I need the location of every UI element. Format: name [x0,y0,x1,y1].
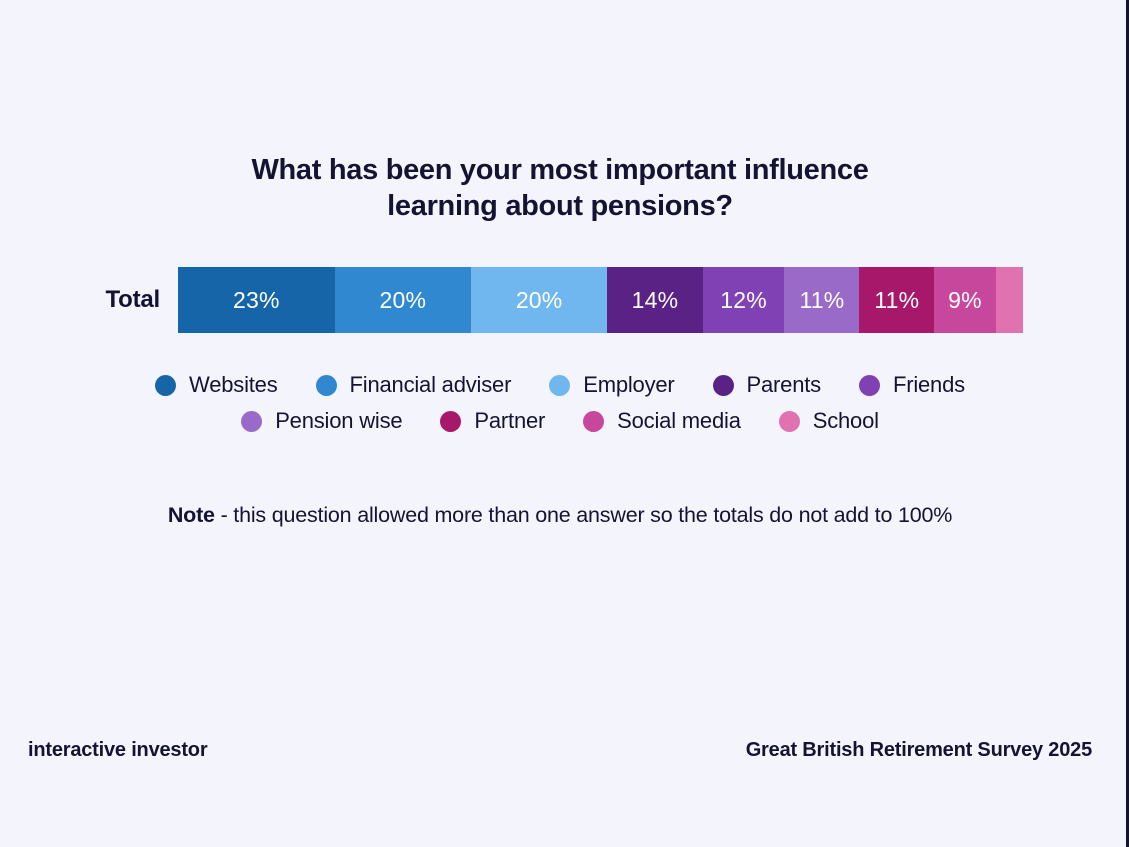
legend-label-websites: Websites [189,372,277,398]
slide-footer: interactive investor Great British Retir… [0,739,1120,762]
bar-segment-friends[interactable]: 12% [703,267,785,333]
legend-item-pension-wise[interactable]: Pension wise [241,408,402,434]
bar-segment-employer[interactable]: 20% [471,267,607,333]
bar-segment-value: 23% [233,287,280,314]
legend-item-social-media[interactable]: Social media [583,408,741,434]
legend-swatch-friends [859,375,880,396]
legend-label-social-media: Social media [617,408,741,434]
legend-row-1: WebsitesFinancial adviserEmployerParents… [0,372,1120,398]
legend-swatch-school [779,411,800,432]
legend-item-financial-adviser[interactable]: Financial adviser [316,372,512,398]
survey-title-label: Great British Retirement Survey 2025 [746,739,1092,762]
bar-segment-value: 11% [874,287,919,314]
legend-item-parents[interactable]: Parents [713,372,821,398]
legend-item-employer[interactable]: Employer [549,372,674,398]
legend-label-employer: Employer [583,372,674,398]
legend-label-partner: Partner [474,408,545,434]
bar-segment-partner[interactable]: 11% [859,267,934,333]
stacked-bar-row: Total 23%20%20%14%12%11%11%9% [0,267,1120,333]
legend-swatch-parents [713,375,734,396]
chart-slide: What has been your most important influe… [0,0,1126,847]
legend-row-2: Pension wisePartnerSocial mediaSchool [0,408,1120,434]
legend-label-pension-wise: Pension wise [275,408,402,434]
legend-swatch-partner [440,411,461,432]
stacked-bar: 23%20%20%14%12%11%11%9% [178,267,1023,333]
bar-segment-value: 20% [516,287,563,314]
chart-note: Note - this question allowed more than o… [0,503,1120,528]
page-title-line-1: What has been your most important influe… [0,152,1120,188]
legend-swatch-financial-adviser [316,375,337,396]
chart-legend: WebsitesFinancial adviserEmployerParents… [0,372,1120,444]
legend-swatch-employer [549,375,570,396]
bar-segment-value: 11% [799,287,844,314]
legend-label-financial-adviser: Financial adviser [350,372,512,398]
legend-item-websites[interactable]: Websites [155,372,277,398]
legend-item-friends[interactable]: Friends [859,372,965,398]
bar-segment-pension-wise[interactable]: 11% [784,267,859,333]
page-title: What has been your most important influe… [0,152,1120,225]
legend-label-friends: Friends [893,372,965,398]
note-bold-label: Note [168,503,215,527]
bar-segment-value: 12% [720,287,767,314]
legend-item-partner[interactable]: Partner [440,408,545,434]
legend-label-parents: Parents [747,372,821,398]
legend-swatch-websites [155,375,176,396]
bar-row-label: Total [0,286,178,314]
bar-segment-websites[interactable]: 23% [178,267,335,333]
page-title-line-2: learning about pensions? [0,188,1120,224]
brand-label: interactive investor [28,739,207,762]
bar-segment-value: 20% [380,287,427,314]
bar-segment-parents[interactable]: 14% [607,267,702,333]
legend-swatch-social-media [583,411,604,432]
legend-item-school[interactable]: School [779,408,879,434]
legend-label-school: School [813,408,879,434]
bar-segment-school[interactable] [996,267,1023,333]
bar-segment-value: 14% [632,287,679,314]
legend-swatch-pension-wise [241,411,262,432]
bar-segment-social-media[interactable]: 9% [934,267,995,333]
note-text: - this question allowed more than one an… [215,503,952,527]
bar-segment-value: 9% [948,287,982,314]
bar-segment-financial-adviser[interactable]: 20% [335,267,471,333]
